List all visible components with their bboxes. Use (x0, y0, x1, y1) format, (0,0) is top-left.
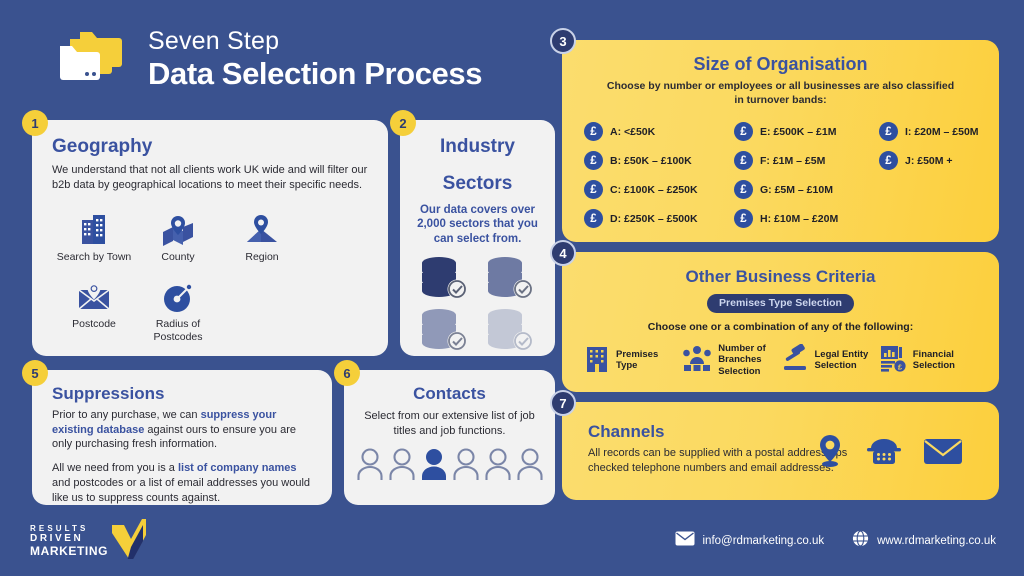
turnover-band[interactable]: £D: £250K – £500K (584, 207, 734, 231)
criteria-item-number-of-branches[interactable]: Number of Branches Selection (682, 343, 780, 377)
size-subtitle: Choose by number or employees or all bus… (602, 80, 959, 108)
criteria-subtitle: Choose one or a combination of any of th… (562, 321, 999, 333)
step-badge-6: 6 (334, 360, 360, 386)
industry-database-icons (400, 254, 555, 354)
criteria-label-line2: Branches (718, 354, 761, 365)
header: Seven Step Data Selection Process (50, 28, 482, 90)
geography-option-label: Search by Town (52, 251, 136, 264)
suppressions-title: Suppressions (52, 384, 332, 404)
industry-sub-post: sectors that you can select from. (434, 218, 538, 244)
suppressions-p1-pre: Prior to any purchase, we can (52, 409, 201, 421)
step-badge-3: 3 (550, 28, 576, 54)
geography-option-postcode[interactable]: Postcode (52, 273, 136, 352)
channels-icon-row (815, 434, 963, 473)
card-industry-sectors[interactable]: 2 Industry Sectors Our data covers over … (400, 120, 555, 356)
folders-icon (50, 28, 130, 90)
premises-type-selection-pill[interactable]: Premises Type Selection (707, 294, 854, 313)
industry-title-line1: Industry (410, 136, 545, 157)
industry-subtitle: Our data covers over 2,000 sectors that … (414, 203, 541, 246)
industry-sub-pre: Our data covers over (420, 204, 535, 216)
turnover-band[interactable]: £B: £50K – £100K (584, 149, 734, 173)
header-title: Data Selection Process (148, 58, 482, 89)
criteria-item-financial-selection[interactable]: £ Financial Selection (879, 343, 977, 377)
header-subtitle: Seven Step (148, 29, 482, 54)
geography-options: Search by Town County (52, 206, 388, 351)
card-size-of-organisation[interactable]: 3 Size of Organisation Choose by number … (562, 40, 999, 242)
turnover-band-label: J: £50M + (905, 155, 953, 167)
criteria-label-line3: Selection (718, 366, 760, 377)
criteria-item-label: Legal Entity Selection (815, 349, 869, 372)
criteria-item-label: Premises Type (616, 349, 658, 372)
criteria-item-legal-entity[interactable]: Legal Entity Selection (781, 343, 879, 377)
step-badge-5: 5 (22, 360, 48, 386)
geography-option-label: Radius of Postcodes (136, 318, 220, 344)
step-badge-4: 4 (550, 240, 576, 266)
turnover-band-empty (879, 207, 1019, 231)
turnover-band-label: I: £20M – £50M (905, 126, 979, 138)
database-check-icon (416, 254, 474, 302)
header-title-group: Seven Step Data Selection Process (148, 29, 482, 89)
turnover-band[interactable]: £H: £10M – £20M (734, 207, 879, 231)
industry-sub-bold: 2,000 (417, 218, 446, 230)
criteria-label-line1: Number of (718, 343, 766, 354)
pound-icon: £ (879, 151, 898, 170)
turnover-band-label: B: £50K – £100K (610, 155, 692, 167)
turnover-band-label: H: £10M – £20M (760, 213, 838, 225)
suppressions-paragraph-1: Prior to any purchase, we can suppress y… (52, 408, 316, 452)
criteria-label-line2: Type (616, 360, 637, 371)
turnover-band-label: F: £1M – £5M (760, 155, 825, 167)
criteria-label-line1: Financial (913, 349, 954, 360)
pound-icon: £ (734, 209, 753, 228)
database-check-icon (416, 306, 474, 354)
geography-body: We understand that not all clients work … (52, 163, 370, 192)
footer-website-group[interactable]: www.rdmarketing.co.uk (852, 530, 996, 552)
card-other-business-criteria[interactable]: 4 Other Business Criteria Premises Type … (562, 252, 999, 392)
suppressions-paragraph-2: All we need from you is a list of compan… (52, 461, 316, 505)
step-badge-2: 2 (390, 110, 416, 136)
infographic-canvas: Seven Step Data Selection Process 1 Geog… (0, 0, 1024, 576)
footer-logo: RESULTS DRIVEN MARKETING (30, 519, 146, 564)
card-geography[interactable]: 1 Geography We understand that not all c… (32, 120, 388, 356)
card-channels[interactable]: 7 Channels All records can be supplied w… (562, 402, 999, 500)
criteria-title: Other Business Criteria (562, 267, 999, 287)
step-badge-1: 1 (22, 110, 48, 136)
criteria-item-label: Financial Selection (913, 349, 955, 372)
geography-option-label: Postcode (52, 318, 136, 331)
envelope-icon (923, 436, 963, 471)
turnover-band[interactable]: £E: £500K – £1M (734, 120, 879, 144)
turnover-band-label: A: <£50K (610, 126, 655, 138)
footer-contact: info@rdmarketing.co.uk www.rdmarketing.c… (675, 530, 997, 552)
turnover-band-list: £A: <£50K £E: £500K – £1M £I: £20M – £50… (584, 120, 999, 231)
footer-logo-line3: MARKETING (30, 545, 108, 558)
turnover-band[interactable]: £A: <£50K (584, 120, 734, 144)
geography-option-label: Region (220, 251, 304, 264)
buildings-icon (52, 206, 136, 246)
turnover-band-empty (879, 178, 1019, 202)
turnover-band[interactable]: £J: £50M + (879, 149, 1019, 173)
office-building-icon (584, 344, 610, 377)
card-suppressions[interactable]: 5 Suppressions Prior to any purchase, we… (32, 370, 332, 505)
postcode-envelope-icon (52, 273, 136, 313)
turnover-band-label: D: £250K – £500K (610, 213, 698, 225)
pound-icon: £ (734, 180, 753, 199)
criteria-item-premises-type[interactable]: Premises Type (584, 343, 682, 377)
turnover-band-label: E: £500K – £1M (760, 126, 836, 138)
geography-option-search-by-town[interactable]: Search by Town (52, 206, 136, 272)
globe-icon (852, 530, 869, 552)
turnover-band[interactable]: £I: £20M – £50M (879, 120, 1019, 144)
person-icon (451, 447, 481, 486)
person-icon (483, 447, 513, 486)
footer-logo-text: RESULTS DRIVEN MARKETING (30, 525, 108, 557)
turnover-band[interactable]: £F: £1M – £5M (734, 149, 879, 173)
suppressions-p2-pre: All we need from you is a (52, 462, 178, 474)
criteria-label-line1: Premises (616, 349, 658, 360)
contacts-title: Contacts (344, 384, 555, 404)
turnover-band[interactable]: £C: £100K – £250K (584, 178, 734, 202)
footer-email[interactable]: info@rdmarketing.co.uk (703, 535, 825, 547)
financial-document-icon: £ (879, 344, 907, 377)
footer-website[interactable]: www.rdmarketing.co.uk (877, 535, 996, 547)
turnover-band[interactable]: £G: £5M – £10M (734, 178, 879, 202)
suppressions-p2-highlight: list of company names (178, 462, 297, 474)
database-check-icon (482, 254, 540, 302)
person-icon (355, 447, 385, 486)
pound-icon: £ (584, 151, 603, 170)
contacts-subtitle: Select from our extensive list of job ti… (356, 409, 543, 438)
geography-title: Geography (52, 136, 388, 158)
map-pin-icon (136, 206, 220, 246)
gavel-icon (781, 344, 809, 377)
contacts-people-icons (344, 447, 555, 486)
radius-icon (136, 273, 220, 313)
database-check-icon (482, 306, 540, 354)
pound-icon: £ (734, 151, 753, 170)
pound-icon: £ (734, 122, 753, 141)
pound-icon: £ (879, 122, 898, 141)
industry-title-line2: Sectors (410, 173, 545, 194)
region-map-icon (220, 206, 304, 246)
footer-email-group[interactable]: info@rdmarketing.co.uk (675, 531, 825, 551)
checkmark-icon (110, 519, 146, 564)
criteria-label-line2: Selection (913, 360, 955, 371)
size-title: Size of Organisation (562, 54, 999, 75)
criteria-items: Premises Type Nu (584, 343, 977, 377)
criteria-label-line2: Selection (815, 360, 857, 371)
criteria-item-label: Number of Branches Selection (718, 343, 766, 377)
person-icon-highlighted (419, 447, 449, 486)
telephone-icon (865, 435, 903, 472)
envelope-icon (675, 531, 695, 551)
turnover-band-label: C: £100K – £250K (610, 184, 698, 196)
step-badge-7: 7 (550, 390, 576, 416)
person-icon (515, 447, 545, 486)
pound-icon: £ (584, 122, 603, 141)
person-icon (387, 447, 417, 486)
geography-option-radius-of-postcodes[interactable]: Radius of Postcodes (136, 273, 220, 352)
geography-option-label: County (136, 251, 220, 264)
location-pin-icon (815, 434, 845, 473)
geography-option-county[interactable]: County (136, 206, 220, 272)
branches-icon (682, 344, 712, 377)
pound-icon: £ (584, 209, 603, 228)
suppressions-p2-post: and postcodes or a list of email address… (52, 477, 310, 504)
criteria-label-line1: Legal Entity (815, 349, 869, 360)
geography-option-region[interactable]: Region (220, 206, 304, 272)
card-contacts[interactable]: 6 Contacts Select from our extensive lis… (344, 370, 555, 505)
turnover-band-label: G: £5M – £10M (760, 184, 833, 196)
pound-icon: £ (584, 180, 603, 199)
